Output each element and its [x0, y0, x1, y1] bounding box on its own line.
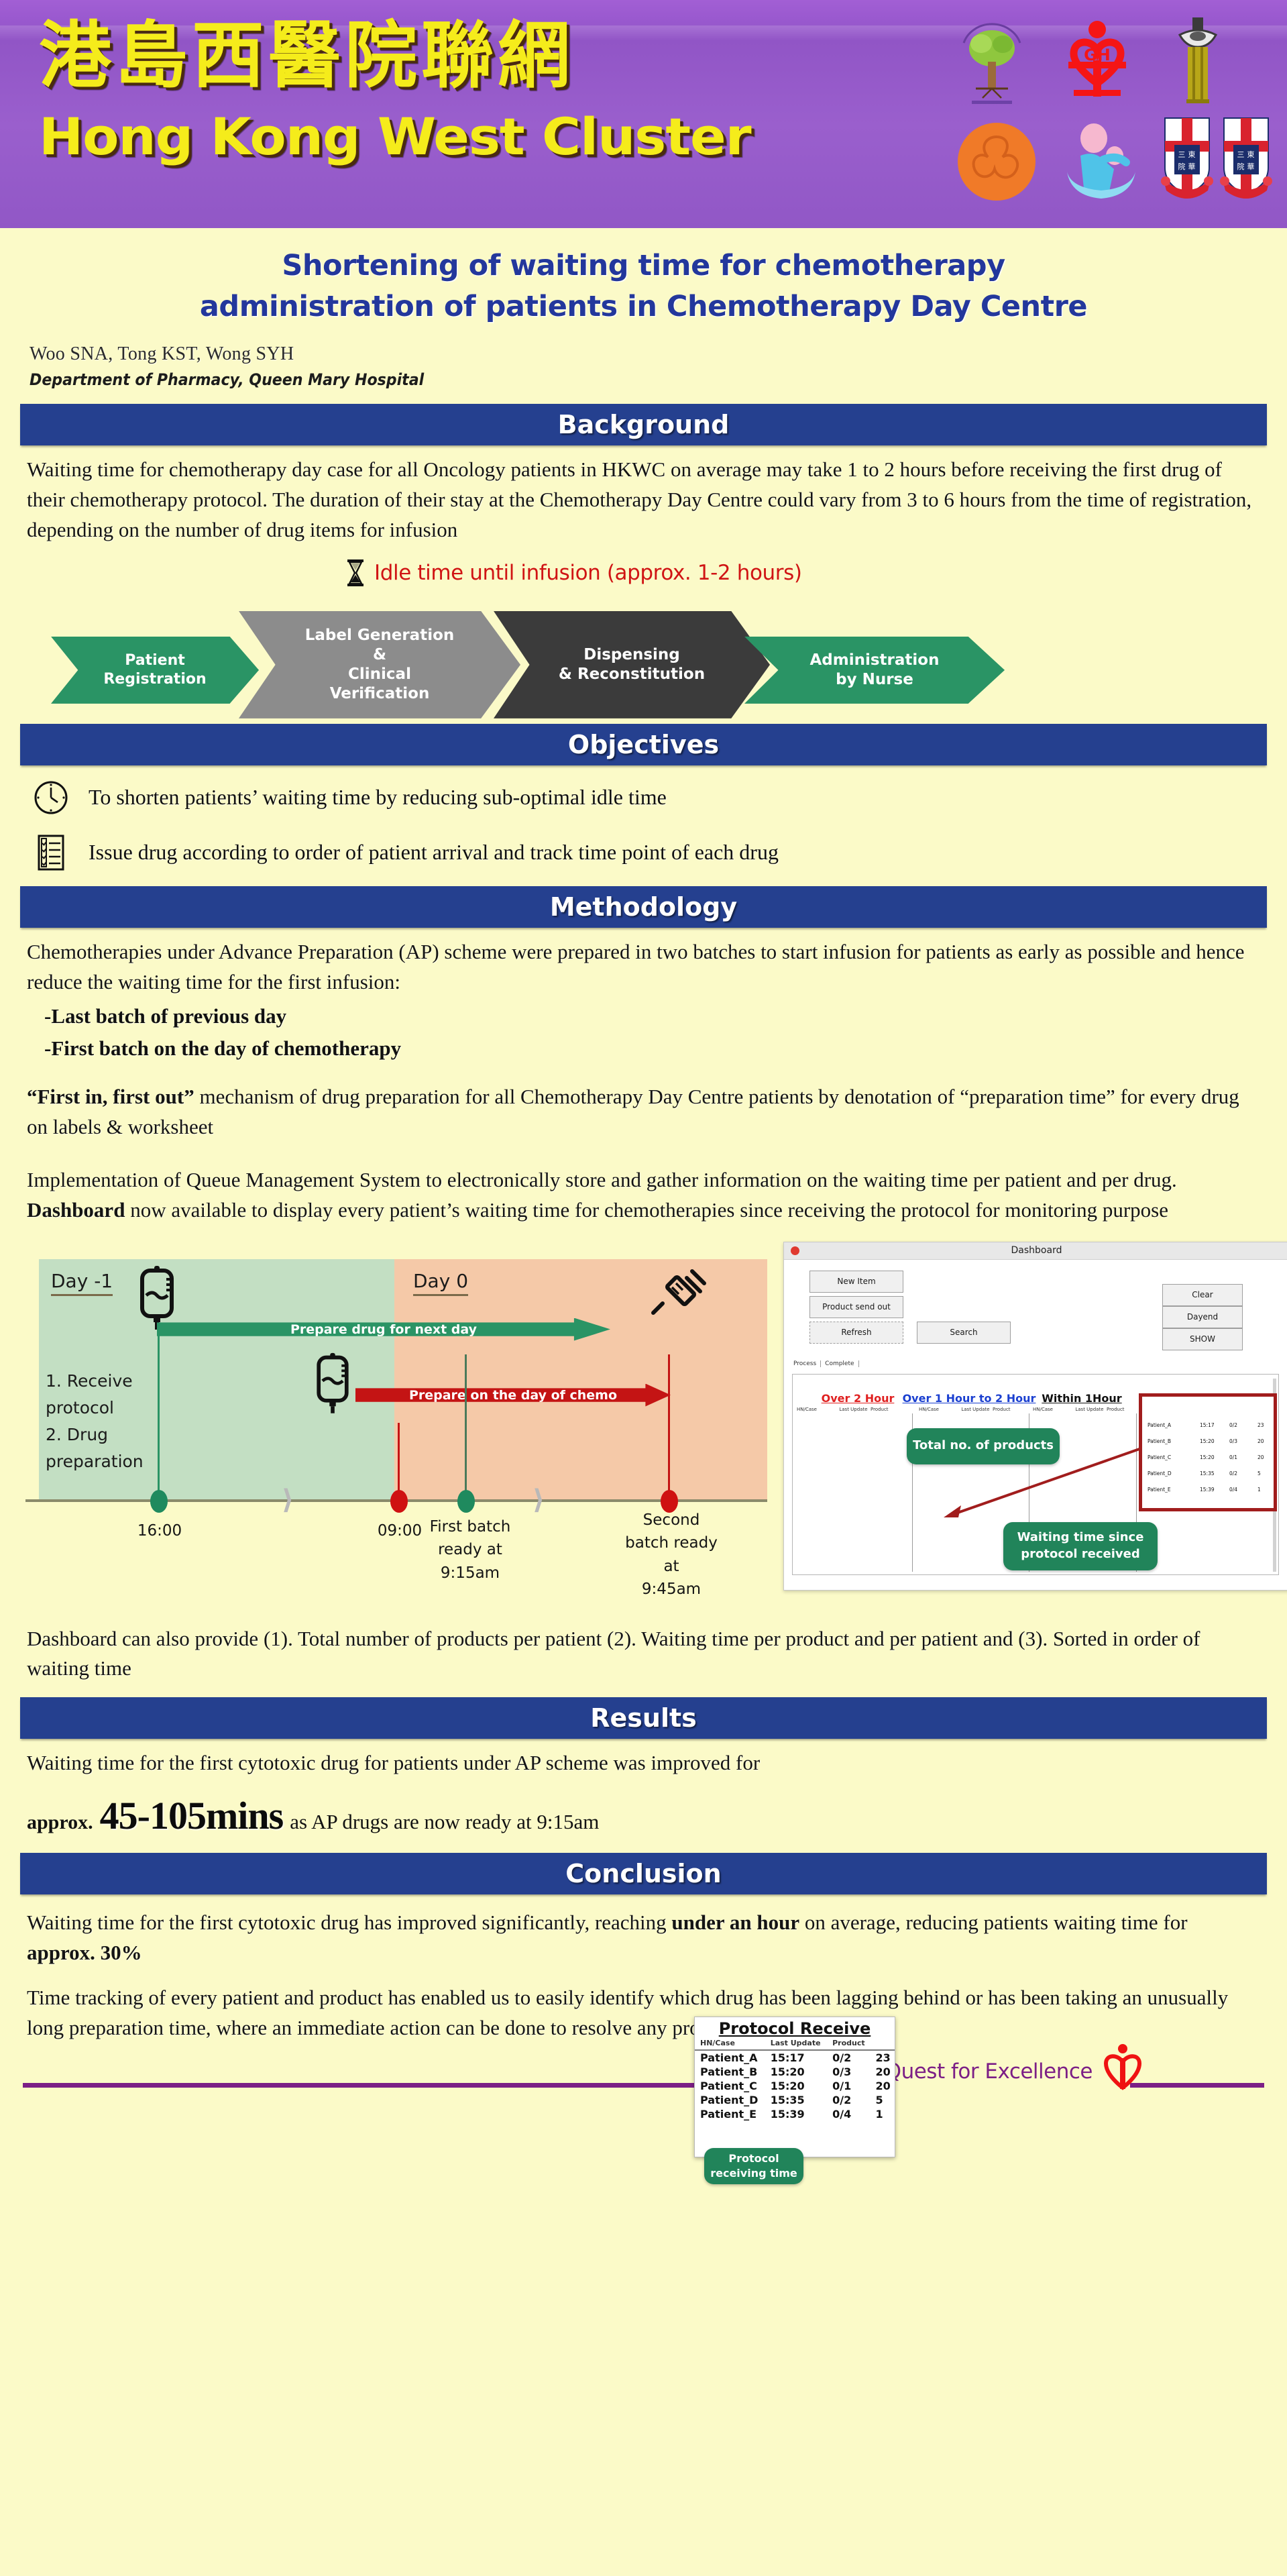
callout-waiting-time: Waiting time since protocol received: [1003, 1522, 1158, 1570]
pr-row-1-wait: 23: [1257, 1422, 1264, 1428]
show-button[interactable]: SHOW: [1162, 1328, 1243, 1350]
process-flow-diagram: Patient Registration Label Generation & …: [12, 592, 1275, 713]
tab-process[interactable]: Process: [793, 1360, 821, 1367]
pr-row-1-case: Patient_A: [1148, 1422, 1171, 1428]
protocol-receive-highlight-box: Patient_A 15:17 0/2 23 Patient_B 15:20 0…: [1139, 1393, 1277, 1511]
timeline-dot-first-batch: [457, 1490, 475, 1513]
flow-step-label-3: Dispensing & Reconstitution: [559, 645, 705, 684]
protocol-receive-table: HN/Case Last Update Product Patient_A 15…: [695, 2039, 895, 2121]
syringe-icon: [648, 1265, 710, 1329]
svg-text:院: 院: [1237, 162, 1245, 171]
cell-wait-1: 23: [871, 2050, 895, 2065]
callout-protocol-receiving-time: Protocol receiving time: [704, 2148, 803, 2184]
timeline-label-1600: 16:00: [119, 1519, 200, 1543]
dashboard-window-title: Dashboard: [1011, 1245, 1062, 1256]
subheader-group-3: HN/Case Last Update Product: [1033, 1407, 1125, 1412]
tung-wah-crest-logo-1: 三 東 院 華: [1160, 115, 1215, 207]
timeline-dot-1600: [150, 1490, 168, 1513]
table-header-row: HN/Case Last Update Product: [695, 2039, 895, 2050]
conclusion-paragraph-1: Waiting time for the first cytotoxic dru…: [12, 1894, 1275, 1971]
product-send-out-button[interactable]: Product send out: [809, 1296, 903, 1318]
pr-row-1-time: 15:17: [1200, 1422, 1215, 1428]
methodology-bullet-2: -First batch on the day of chemotherapy: [12, 1032, 1275, 1065]
pr-row-5-product: 0/4: [1229, 1487, 1237, 1493]
timeline-day-zero-label: Day 0: [413, 1270, 468, 1296]
protocol-receive-zoom-table: Protocol Receive HN/Case Last Update Pro…: [694, 2017, 895, 2157]
background-paragraph: Waiting time for chemotherapy day case f…: [12, 445, 1275, 548]
cell-time-1: 15:17: [765, 2050, 827, 2065]
timeline-diagram: Day -1 Day 0: [19, 1252, 770, 1596]
results-value: 45-105mins: [100, 1793, 284, 1838]
dashboard-emphasis: Dashboard: [27, 1198, 125, 1222]
idle-time-note: Idle time until infusion (approx. 1-2 ho…: [12, 548, 1275, 590]
objective-text-2: Issue drug according to order of patient…: [89, 840, 779, 865]
tung-wah-crest-logo-2: 三 東 院 華: [1219, 115, 1274, 207]
table-row: Patient_A 15:17 0/2 23: [695, 2050, 895, 2065]
timeline-arrow-green-label: Prepare drug for next day: [290, 1322, 477, 1337]
objective-text-1: To shorten patients’ waiting time by red…: [89, 785, 667, 810]
svg-text:華: 華: [1188, 162, 1196, 171]
mother-child-logo: [1062, 121, 1141, 204]
cell-case-2: Patient_B: [695, 2065, 765, 2079]
pr-row-4-product: 0/2: [1229, 1470, 1237, 1477]
subheader-group-2: HN/Case Last Update Product: [919, 1407, 1011, 1412]
flow-step-dispensing: Dispensing & Reconstitution: [494, 611, 770, 718]
pr-row-4-time: 15:35: [1200, 1470, 1215, 1477]
grantham-hospital-logo: GH: [1060, 19, 1134, 102]
pr-row-4-case: Patient_D: [1148, 1470, 1172, 1477]
refresh-button[interactable]: Refresh: [809, 1322, 903, 1344]
th-waiting: [871, 2039, 895, 2050]
section-title-objectives: Objectives: [568, 730, 719, 759]
tab-complete[interactable]: Complete: [825, 1360, 858, 1367]
section-header-methodology: Methodology: [20, 886, 1267, 928]
conclusion-bold-under-an-hour: under an hour: [671, 1911, 799, 1934]
methodology-paragraph-2: “First in, first out” mechanism of drug …: [12, 1065, 1275, 1145]
section-title-background: Background: [558, 410, 730, 439]
pr-row-2-time: 15:20: [1200, 1438, 1215, 1444]
conclusion-text-a: Waiting time for the first cytotoxic dru…: [27, 1911, 671, 1934]
dashboard-tabs: Process Complete: [793, 1360, 859, 1367]
cell-product-5: 0/4: [827, 2107, 870, 2121]
cell-time-4: 15:35: [765, 2093, 827, 2107]
cell-wait-4: 5: [871, 2093, 895, 2107]
cell-product-3: 0/1: [827, 2079, 870, 2093]
pr-row-1-product: 0/2: [1229, 1422, 1237, 1428]
checklist-icon: [34, 834, 68, 871]
flow-step-administration: Administration by Nurse: [744, 637, 1005, 704]
cell-time-2: 15:20: [765, 2065, 827, 2079]
table-row: Patient_D 15:35 0/2 5: [695, 2093, 895, 2107]
fifo-emphasis: “First in, first out”: [27, 1085, 194, 1108]
cell-case-4: Patient_D: [695, 2093, 765, 2107]
results-approx-label: approx.: [27, 1811, 93, 1834]
protocol-receive-zoom-title: Protocol Receive: [695, 2017, 895, 2039]
timeline-dot-0900: [390, 1490, 408, 1513]
pr-row-5-time: 15:39: [1200, 1487, 1215, 1493]
cell-product-2: 0/3: [827, 2065, 870, 2079]
hourglass-icon: [346, 559, 365, 587]
callout-total-products: Total no. of products: [907, 1428, 1060, 1464]
svg-text:三: 三: [1237, 150, 1245, 159]
svg-text:東: 東: [1188, 150, 1196, 159]
tree-foundation-logo: [956, 13, 1028, 107]
poster-body: Shortening of waiting time for chemother…: [0, 228, 1287, 2093]
timeline-label-second-batch: Second batch ready at 9:45am: [621, 1509, 722, 1601]
pr-row-2-case: Patient_B: [1148, 1438, 1171, 1444]
conclusion-text-b: on average, reducing patients waiting ti…: [799, 1911, 1187, 1934]
timeline-separator-2: ⟩: [533, 1485, 545, 1515]
ha-heart-logo: [1102, 2043, 1143, 2092]
page-title-line2: administration of patients in Chemothera…: [12, 286, 1275, 327]
cell-case-1: Patient_A: [695, 2050, 765, 2065]
pr-row-5-wait: 1: [1257, 1487, 1261, 1493]
section-header-conclusion: Conclusion: [20, 1853, 1267, 1894]
tung-wah-pillar-logo: [1170, 15, 1225, 109]
conclusion-bold-approx-30: approx. 30%: [27, 1941, 142, 1964]
timeline-stem-second-batch: [668, 1354, 670, 1499]
search-button[interactable]: Search: [917, 1322, 1011, 1344]
pr-row-2-wait: 20: [1257, 1438, 1264, 1444]
title-block: Shortening of waiting time for chemother…: [12, 228, 1275, 393]
table-row: Patient_B 15:20 0/3 20: [695, 2065, 895, 2079]
results-lead: Waiting time for the first cytotoxic dru…: [12, 1739, 1275, 1781]
iv-bag-icon-day-zero: [309, 1352, 357, 1421]
results-trailing: as AP drugs are now ready at 9:15am: [290, 1810, 599, 1834]
cell-case-3: Patient_C: [695, 2079, 765, 2093]
cell-product-4: 0/2: [827, 2093, 870, 2107]
svg-text:東: 東: [1247, 150, 1255, 159]
flow-step-label-4: Administration by Nurse: [810, 651, 940, 690]
th-last-update: Last Update: [765, 2039, 827, 2050]
banner-title-english: Hong Kong West Cluster: [39, 109, 911, 165]
methodology-paragraph-1: Chemotherapies under Advance Preparation…: [12, 928, 1275, 1000]
section-title-methodology: Methodology: [550, 892, 737, 922]
pr-row-5-case: Patient_E: [1148, 1487, 1171, 1493]
dayend-button[interactable]: Dayend: [1162, 1306, 1243, 1328]
column-header-over-2-hour: Over 2 Hour: [807, 1392, 908, 1405]
poster-footer: Quest for Excellence: [12, 2049, 1275, 2093]
section-header-background: Background: [20, 404, 1267, 445]
timeline-arrow-red-label: Prepare on the day of chemo: [409, 1388, 617, 1403]
cell-product-1: 0/2: [827, 2050, 870, 2065]
svg-text:華: 華: [1247, 162, 1255, 171]
column-header-over-1-to-2-hour: Over 1 Hour to 2 Hour: [899, 1392, 1040, 1405]
objective-item-2: Issue drug according to order of patient…: [12, 819, 1275, 875]
svg-text:院: 院: [1178, 162, 1186, 171]
cell-wait-3: 20: [871, 2079, 895, 2093]
results-highlight-line: approx. 45-105mins as AP drugs are now r…: [12, 1781, 1275, 1842]
section-header-results: Results: [20, 1697, 1267, 1739]
banner-title-block: 港島西醫院聯網 Hong Kong West Cluster: [39, 12, 877, 164]
th-product: Product: [827, 2039, 870, 2050]
idle-time-label: Idle time until infusion (approx. 1-2 ho…: [374, 561, 802, 585]
cell-case-5: Patient_E: [695, 2107, 765, 2121]
page-title-line1: Shortening of waiting time for chemother…: [12, 246, 1275, 286]
timeline-stem-1600: [158, 1333, 160, 1499]
author-names: Woo SNA, Tong KST, Wong SYH: [30, 343, 1275, 365]
flow-step-patient-registration: Patient Registration: [51, 637, 259, 704]
close-icon[interactable]: [791, 1246, 799, 1255]
banner-logo-group: GH: [956, 9, 1271, 221]
footer-rule-right: [1130, 2083, 1264, 2088]
footer-slogan: Quest for Excellence: [885, 2059, 1093, 2084]
pr-row-3-product: 0/1: [1229, 1454, 1237, 1460]
orange-flower-logo: [956, 121, 1038, 203]
svg-text:三: 三: [1178, 150, 1186, 159]
dashboard-caption: Dashboard can also provide (1). Total nu…: [12, 1613, 1275, 1687]
svg-text:GH: GH: [1084, 46, 1111, 64]
timeline-separator-1: ⟩: [282, 1485, 294, 1515]
pr-row-4-wait: 5: [1257, 1470, 1261, 1477]
pr-row-3-case: Patient_C: [1148, 1454, 1171, 1460]
timeline-stem-first-batch: [465, 1354, 467, 1499]
objective-item-1: To shorten patients’ waiting time by red…: [12, 765, 1275, 819]
conclusion-paragraph-2: Time tracking of every patient and produ…: [12, 1971, 1275, 2046]
section-title-conclusion: Conclusion: [565, 1859, 721, 1888]
column-header-within-1-hour: Within 1Hour: [1031, 1392, 1132, 1405]
cell-wait-5: 1: [871, 2107, 895, 2121]
banner-title-chinese: 港島西醫院聯網: [39, 12, 877, 101]
timeline-day-minus1-label: Day -1: [51, 1270, 113, 1296]
section-header-objectives: Objectives: [20, 724, 1267, 765]
timeline-stem-0900: [398, 1423, 400, 1499]
cell-wait-2: 20: [871, 2065, 895, 2079]
clock-icon: [34, 780, 68, 815]
flow-step-label-1: Patient Registration: [103, 651, 206, 688]
flow-step-label-2: Label Generation & Clinical Verification: [305, 626, 455, 704]
pr-row-2-product: 0/3: [1229, 1438, 1237, 1444]
qms-text-a: Implementation of Queue Management Syste…: [27, 1168, 1177, 1191]
fifo-rest: mechanism of drug preparation for all Ch…: [27, 1085, 1239, 1138]
th-hn-case: HN/Case: [695, 2039, 765, 2050]
flow-step-label-generation: Label Generation & Clinical Verification: [239, 611, 520, 718]
author-department: Department of Pharmacy, Queen Mary Hospi…: [30, 370, 1175, 389]
cluster-banner: 港島西醫院聯網 Hong Kong West Cluster GH: [0, 0, 1287, 228]
timeline-label-first-batch: First batch ready at 9:15am: [420, 1515, 520, 1585]
table-row: Patient_C 15:20 0/1 20: [695, 2079, 895, 2093]
methodology-paragraph-3: Implementation of Queue Management Syste…: [12, 1145, 1275, 1228]
methodology-bullet-1: -Last batch of previous day: [12, 1000, 1275, 1032]
dashboard-titlebar: Dashboard: [784, 1242, 1287, 1260]
new-item-button[interactable]: New Item: [809, 1271, 903, 1293]
pr-row-3-time: 15:20: [1200, 1454, 1215, 1460]
clear-button[interactable]: Clear: [1162, 1284, 1243, 1306]
qms-text-b: now available to display every patient’s…: [125, 1198, 1168, 1222]
table-row: Patient_E 15:39 0/4 1: [695, 2107, 895, 2121]
figures-row: Day -1 Day 0: [12, 1238, 1275, 1613]
timeline-task-list: 1. Receive protocol 2. Drug preparation: [46, 1368, 144, 1475]
pr-row-3-wait: 20: [1257, 1454, 1264, 1460]
author-block: Woo SNA, Tong KST, Wong SYH Department o…: [12, 343, 1275, 389]
subheader-group-1: HN/Case Last Update Product: [797, 1407, 889, 1412]
cell-time-3: 15:20: [765, 2079, 827, 2093]
cell-time-5: 15:39: [765, 2107, 827, 2121]
section-title-results: Results: [590, 1703, 697, 1733]
